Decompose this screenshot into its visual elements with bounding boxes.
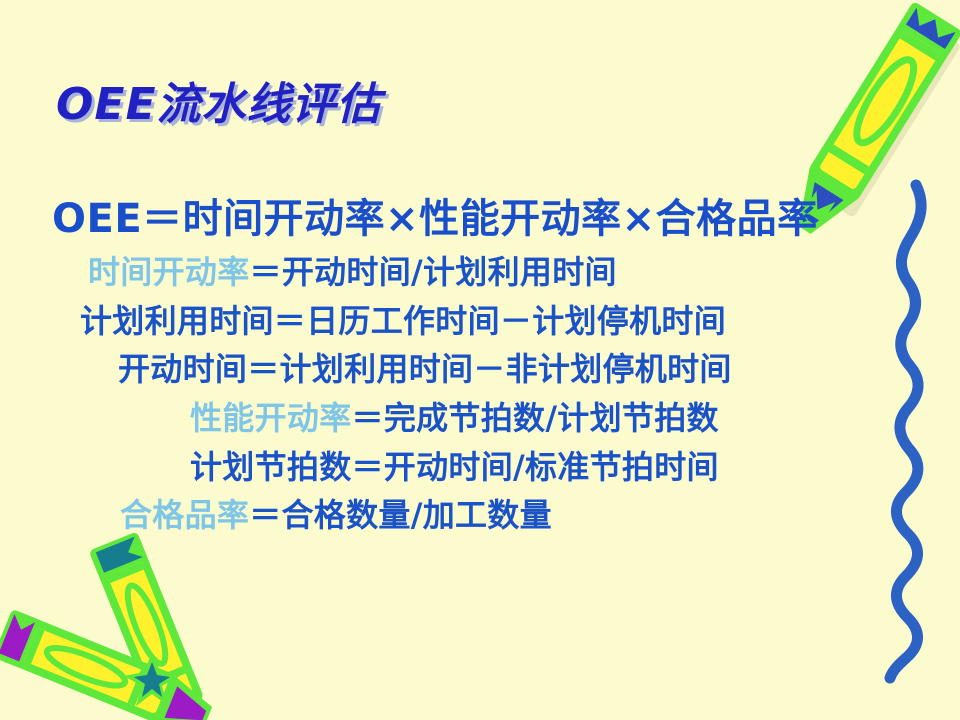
formula-term-6: 合格品率 [120, 496, 249, 534]
formula-line-5: 计划节拍数＝开动时间/标准节拍时间 [0, 443, 900, 492]
formula-line-3: 开动时间＝计划利用时间－非计划停机时间 [0, 345, 900, 394]
formula-rest-3: 开动时间＝计划利用时间－非计划停机时间 [118, 350, 732, 388]
title-block: OEE流水线评估 [56, 82, 382, 128]
formula-line-2: 计划利用时间＝日历工作时间－计划停机时间 [0, 297, 900, 346]
formula-rest-5: 计划节拍数＝开动时间/标准节拍时间 [190, 448, 719, 486]
slide-canvas: OEE流水线评估 OEE＝时间开动率×性能开动率×合格品率 时间开动率＝开动时间… [0, 0, 960, 720]
formula-line-4: 性能开动率＝完成节拍数/计划节拍数 [0, 394, 900, 443]
crayon-bottom-left-b-icon [0, 609, 218, 720]
formula-rest-4: ＝完成节拍数/计划节拍数 [352, 399, 719, 437]
formula-term-1: 时间开动率 [88, 253, 250, 291]
crayon-star-accent-icon [124, 652, 180, 706]
formula-block: OEE＝时间开动率×性能开动率×合格品率 时间开动率＝开动时间/计划利用时间 计… [0, 190, 900, 540]
page-title: OEE流水线评估 [56, 82, 382, 128]
formula-rest-1: ＝开动时间/计划利用时间 [250, 253, 617, 291]
formula-term-4: 性能开动率 [190, 399, 352, 437]
formula-main: OEE＝时间开动率×性能开动率×合格品率 [0, 190, 900, 248]
formula-rest-2: 计划利用时间＝日历工作时间－计划停机时间 [80, 302, 726, 340]
formula-rest-6: ＝合格数量/加工数量 [249, 496, 552, 534]
formula-line-1: 时间开动率＝开动时间/计划利用时间 [0, 248, 900, 297]
crayon-bottom-left-a-icon [89, 531, 220, 720]
formula-line-6: 合格品率＝合格数量/加工数量 [0, 491, 900, 540]
